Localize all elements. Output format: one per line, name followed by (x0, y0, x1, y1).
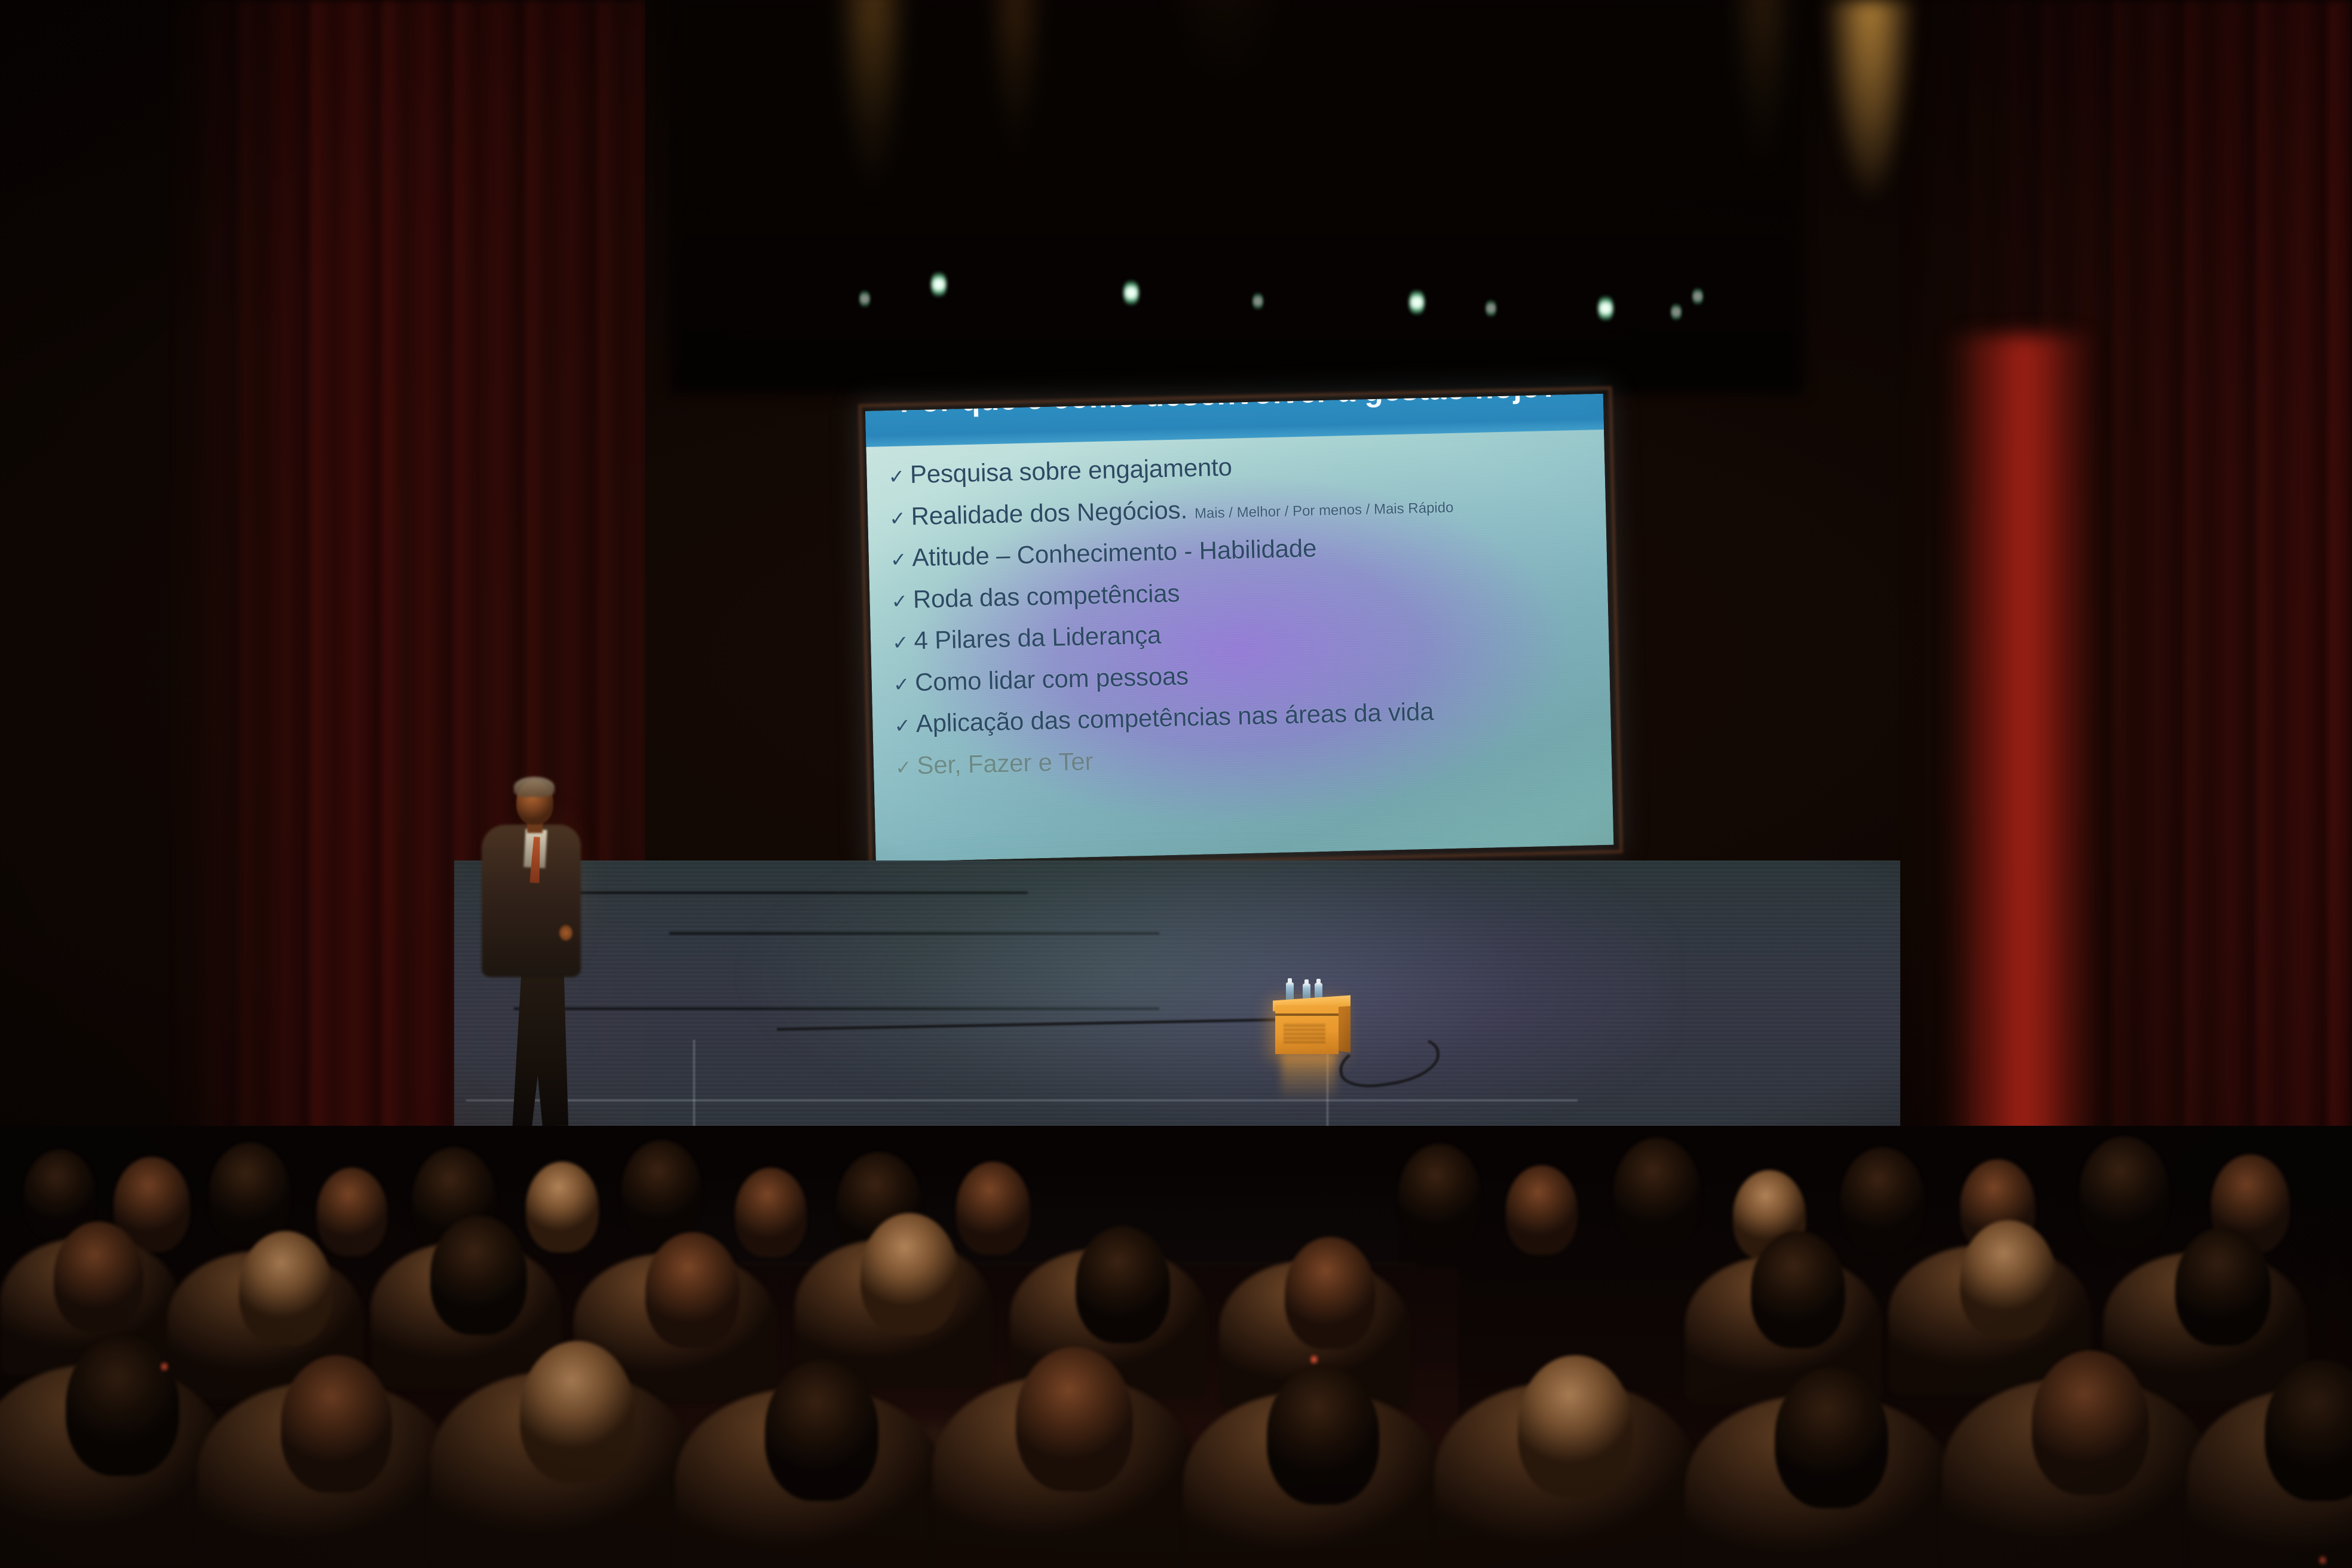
audience-head (281, 1355, 392, 1493)
striplight-5 (1409, 288, 1425, 317)
audience-head (1840, 1147, 1924, 1252)
audience-head (54, 1221, 143, 1333)
crate-stencil-text (1284, 1023, 1325, 1043)
check-icon: ✓ (890, 549, 906, 571)
presenter-hair (514, 777, 555, 797)
bullet-text: Ser, Fazer e Ter (917, 748, 1094, 779)
slide-bullet-item: ✓ Ser, Fazer e Ter (895, 736, 1594, 779)
crate-lid-seam (1275, 1013, 1339, 1016)
bullet-text: Pesquisa sobre engajamento (909, 454, 1232, 488)
phone-screen-glow (160, 1360, 169, 1373)
slide-bullet-list: ✓ Pesquisa sobre engajamento ✓ Realidade… (888, 446, 1594, 795)
bullet-text: Aplicação das competências nas áreas da … (915, 699, 1434, 737)
striplight-2 (931, 270, 947, 299)
audience-head (1285, 1237, 1376, 1349)
audience-head (645, 1232, 740, 1348)
crate-side-face (1339, 1000, 1350, 1052)
floor-seam-line (669, 932, 1159, 935)
audience-head (2032, 1350, 2149, 1495)
audience-head (66, 1335, 179, 1476)
audience-head (1506, 1165, 1578, 1255)
striplight-6 (1486, 298, 1496, 318)
audience-head (735, 1168, 807, 1257)
audience-head (1960, 1220, 2057, 1340)
bullet-subtext: Mais / Melhor / Por menos / Mais Rápido (1195, 500, 1454, 521)
projected-slide: Por que e como desenvolver a gestão hoje… (865, 394, 1613, 862)
bullet-text: Realidade dos Negócios. (911, 497, 1187, 529)
slide-bullet-item: ✓ Roda das competências (891, 570, 1590, 613)
striplight-1 (859, 289, 870, 309)
audience-head (430, 1215, 527, 1335)
floor-seam-line (466, 1100, 1578, 1101)
bullet-text: Atitude – Conhecimento - Habilidade (912, 535, 1317, 571)
audience-head (1518, 1355, 1633, 1497)
check-icon: ✓ (895, 757, 912, 779)
slide-bullet-item: ✓ Aplicação das competências nas áreas d… (894, 695, 1593, 738)
theater-stage-photo: Por que e como desenvolver a gestão hoje… (0, 0, 2352, 1568)
audience-head (209, 1143, 290, 1244)
crate-floor-reflection (1281, 1053, 1336, 1108)
audience-foreground (0, 1126, 2352, 1568)
striplight-7 (1598, 294, 1613, 323)
audience-head (621, 1140, 702, 1242)
stage-masking (669, 0, 1805, 394)
phone-screen-glow (1310, 1353, 1318, 1366)
audience-head (1751, 1231, 1845, 1348)
check-icon: ✓ (892, 632, 909, 654)
bullet-text: Roda das competências (912, 580, 1180, 612)
audience-head (765, 1360, 878, 1501)
striplight-3 (1123, 278, 1139, 307)
presenter (454, 765, 627, 1183)
striplight-4 (1252, 291, 1263, 311)
check-icon: ✓ (889, 508, 906, 529)
check-icon: ✓ (894, 715, 911, 737)
audience-head (1398, 1144, 1481, 1248)
check-icon: ✓ (888, 466, 905, 488)
presenter-legs (509, 968, 571, 1141)
check-icon: ✓ (893, 674, 909, 696)
audience-head (956, 1162, 1030, 1255)
audience-head (526, 1162, 599, 1252)
bullet-text: Como lidar com pessoas (915, 663, 1189, 696)
audience-head (860, 1213, 958, 1335)
curtain-right-highlight (1946, 335, 2089, 1207)
audience-head (520, 1341, 635, 1483)
slide-bullet-item: ✓ Realidade dos Negócios. Mais / Melhor … (889, 487, 1588, 530)
check-icon: ✓ (891, 591, 908, 612)
audience-head (1267, 1365, 1379, 1505)
presenter-hand (559, 925, 572, 941)
phone-screen-glow (2319, 1554, 2327, 1567)
slide-bullet-item: ✓ Como lidar com pessoas (893, 653, 1592, 696)
slide-bullet-item: ✓ 4 Pilares da Liderança (892, 612, 1591, 655)
bullet-text: 4 Pilares da Liderança (914, 622, 1161, 654)
audience-head (1775, 1367, 1888, 1508)
audience-head (1076, 1226, 1170, 1343)
striplight-8 (1671, 302, 1682, 322)
slide-bullet-item: ✓ Atitude – Conhecimento - Habilidade (890, 529, 1589, 572)
stage-light-bar (825, 251, 1757, 335)
audience-head (317, 1168, 387, 1256)
audience-head (1613, 1138, 1701, 1248)
audience-head (2080, 1137, 2169, 1249)
audience-head (1016, 1347, 1133, 1492)
audience-head (239, 1231, 332, 1346)
audience-head (2175, 1227, 2271, 1346)
striplight-9 (1692, 286, 1703, 307)
